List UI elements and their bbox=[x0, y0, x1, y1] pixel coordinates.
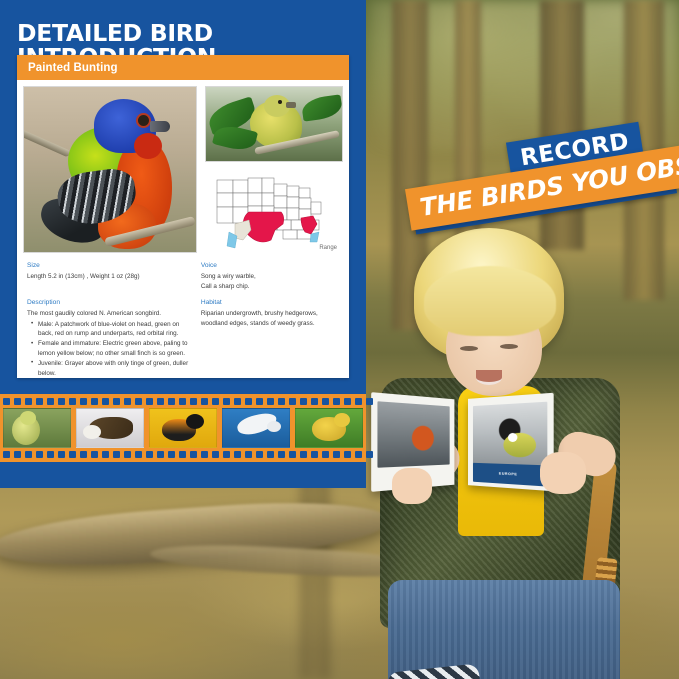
painted-bunting-male-photo bbox=[23, 86, 197, 253]
filmstrip-sprockets-top bbox=[0, 397, 366, 406]
book-caption-text: EUROPE bbox=[473, 463, 547, 487]
size-value: Length 5.2 in (13cm) , Weight 1 oz (28g) bbox=[27, 272, 193, 282]
species-media: Range bbox=[17, 80, 349, 255]
promo-banners: RECORD THE BIRDS YOU OBSERVE bbox=[402, 128, 679, 238]
baltimore-oriole-thumbnail bbox=[149, 408, 217, 448]
description-label: Description bbox=[27, 298, 193, 308]
list-item: Female and immature: Electric green abov… bbox=[34, 339, 193, 358]
species-card-header: Painted Bunting bbox=[17, 55, 349, 80]
child-hand bbox=[540, 452, 586, 494]
female-bunting-beak bbox=[286, 102, 296, 108]
voice-line-1: Song a wiry warble, bbox=[201, 272, 339, 282]
bunting-beak bbox=[150, 121, 170, 132]
filmstrip-frames bbox=[3, 408, 363, 448]
great-tit-photo-page bbox=[473, 402, 547, 468]
info-panel: DETAILED BIRD INTRODUCTION Painted Bunti… bbox=[0, 0, 366, 488]
painted-bunting-illustration bbox=[42, 97, 172, 247]
yellow-oriole-thumbnail bbox=[295, 408, 363, 448]
voice-label: Voice bbox=[201, 261, 339, 271]
range-map: Range bbox=[205, 168, 343, 253]
voice-block: Voice Song a wiry warble, Call a sharp c… bbox=[201, 261, 339, 298]
filmstrip-sprockets-bottom bbox=[0, 450, 366, 459]
child-hand bbox=[392, 468, 432, 504]
details-row-bottom: Description The most gaudily colored N. … bbox=[27, 298, 339, 378]
size-label: Size bbox=[27, 261, 193, 271]
habitat-label: Habitat bbox=[201, 298, 339, 308]
child-mouth bbox=[476, 370, 502, 385]
voice-line-2: Call a sharp chip. bbox=[201, 282, 339, 292]
poster-image: EUROPE DETAILED BIRD INTRODUCTION Painte… bbox=[0, 0, 679, 679]
list-item: Juvenile: Grayer above with only tinge o… bbox=[34, 359, 193, 378]
description-block: Description The most gaudily colored N. … bbox=[27, 298, 201, 378]
list-item: Male: A patchwork of blue-violet on head… bbox=[34, 320, 193, 339]
species-details: Size Length 5.2 in (13cm) , Weight 1 oz … bbox=[17, 255, 349, 379]
child-fringe bbox=[424, 266, 556, 336]
bald-eagle-thumbnail bbox=[76, 408, 144, 448]
child-jeans bbox=[388, 580, 620, 679]
description-intro: The most gaudily colored N. American son… bbox=[27, 309, 193, 319]
species-name: Painted Bunting bbox=[17, 62, 118, 74]
child-eye bbox=[500, 344, 518, 349]
tern-in-flight-thumbnail bbox=[222, 408, 290, 448]
robin-photo-page bbox=[377, 401, 449, 467]
leaf bbox=[301, 94, 343, 121]
green-finch-thumbnail bbox=[3, 408, 71, 448]
child-eye bbox=[460, 346, 478, 351]
habitat-value: Riparian undergrowth, brushy hedgerows, … bbox=[201, 309, 339, 328]
painted-bunting-female-photo bbox=[205, 86, 343, 162]
description-bullet-list: Male: A patchwork of blue-violet on head… bbox=[27, 320, 193, 378]
size-block: Size Length 5.2 in (13cm) , Weight 1 oz … bbox=[27, 261, 201, 298]
habitat-block: Habitat Riparian undergrowth, brushy hed… bbox=[201, 298, 339, 378]
female-bunting-eye bbox=[278, 100, 282, 104]
great-tit-cheek bbox=[508, 432, 517, 441]
bunting-throat bbox=[134, 133, 162, 159]
bunting-eye bbox=[138, 115, 149, 126]
species-card: Painted Bunting bbox=[17, 55, 349, 378]
book-caption: EUROPE bbox=[473, 463, 547, 487]
range-map-label: Range bbox=[319, 245, 337, 251]
range-map-svg bbox=[205, 168, 343, 253]
filmstrip bbox=[0, 394, 366, 462]
details-row-top: Size Length 5.2 in (13cm) , Weight 1 oz … bbox=[27, 261, 339, 298]
